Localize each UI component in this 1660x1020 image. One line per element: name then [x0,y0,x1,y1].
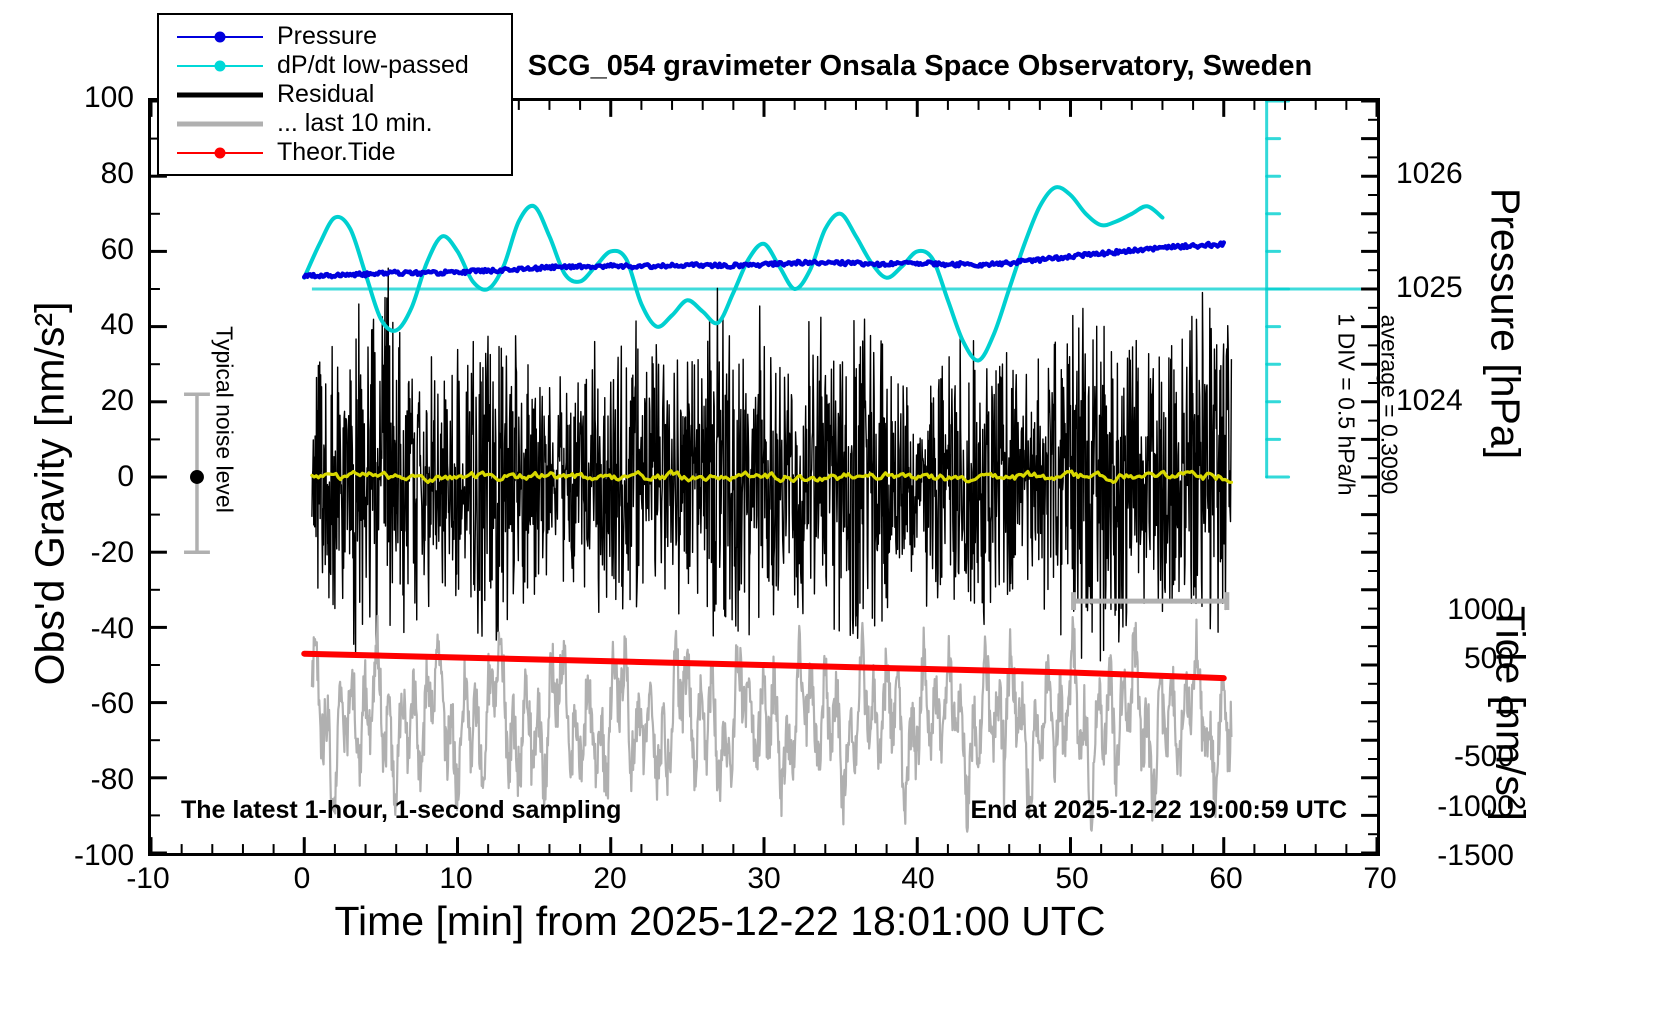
x-tick-label: 60 [1209,862,1242,896]
legend-item-dp-dt-low-passed[interactable]: dP/dt low-passed [159,51,511,80]
y-tick-label: 20 [101,384,134,418]
x-tick-label: 70 [1363,862,1396,896]
div-scale-label: 1 DIV = 0.5 hPa/h [1333,285,1360,525]
legend-swatch-icon [177,27,263,47]
y-right-tide-tick-label: -1000 [1396,790,1514,824]
x-tick-label: 20 [593,862,626,896]
y-axis-left-label: Obs'd Gravity [nm/s²] [27,144,74,844]
legend-line-icon [177,92,263,97]
y-right-tide-tick-label: -1500 [1396,839,1514,873]
gravimeter-plot-page: SCG_054 gravimeter Onsala Space Observat… [0,0,1660,1020]
y-tick-label: 60 [101,233,134,267]
sampling-note: The latest 1-hour, 1-second sampling [181,796,621,825]
y-tick-label: 0 [117,460,134,494]
legend-swatch-icon [177,114,263,134]
legend-marker-icon [215,31,226,42]
legend-item-theor-tide[interactable]: Theor.Tide [159,138,511,167]
end-time-note: End at 2025-12-22 19:00:59 UTC [970,796,1347,825]
legend-item-label: dP/dt low-passed [277,53,469,78]
y-right-pressure-tick-label: 1026 [1396,157,1463,191]
x-axis-label: Time [min] from 2025-12-22 18:01:00 UTC [0,898,1440,945]
y-right-tide-tick-label: 1000 [1396,593,1514,627]
y-tick-label: -80 [91,763,134,797]
typical-noise-level-label: Typical noise level [211,325,238,515]
legend-item-label: Pressure [277,24,377,49]
y-tick-label: -60 [91,687,134,721]
legend-swatch-icon [177,56,263,76]
y-tick-label: -40 [91,612,134,646]
legend-item-label: Theor.Tide [277,140,396,165]
average-label: average = 0.3090 [1376,285,1403,525]
x-tick-label: 40 [901,862,934,896]
page-title: SCG_054 gravimeter Onsala Space Observat… [420,50,1420,83]
legend-swatch-icon [177,85,263,105]
y-right-tide-tick-label: 500 [1396,642,1514,676]
plot-area: Typical noise level 1 DIV = 0.5 hPa/h av… [148,98,1380,856]
x-tick-label: -10 [126,862,169,896]
y-tick-label: 80 [101,157,134,191]
legend-item-label: Residual [277,82,374,107]
x-tick-label: 10 [439,862,472,896]
x-tick-label: 30 [747,862,780,896]
y-tick-label: 100 [84,81,134,115]
legend-item-pressure[interactable]: Pressure [159,22,511,51]
y-tick-label: 40 [101,308,134,342]
x-tick-label: 50 [1055,862,1088,896]
x-tick-label: 0 [294,862,311,896]
legend-marker-icon [215,60,226,71]
legend: PressuredP/dt low-passedResidual... last… [157,13,513,176]
legend-swatch-icon [177,143,263,163]
y-right-pressure-tick-label: 1025 [1396,271,1463,305]
legend-item-last-10-min[interactable]: ... last 10 min. [159,109,511,138]
y-axis-right-pressure-label: Pressure [hPa] [1482,114,1529,534]
y-tick-label: -100 [74,839,134,873]
y-right-pressure-tick-label: 1024 [1396,384,1463,418]
legend-item-residual[interactable]: Residual [159,80,511,109]
y-right-tide-tick-label: -500 [1396,740,1514,774]
legend-line-icon [177,121,263,126]
legend-marker-icon [215,147,226,158]
y-right-tide-tick-label: 0 [1396,691,1514,725]
axis-ticks-canvas [151,101,1377,853]
y-tick-label: -20 [91,536,134,570]
legend-item-label: ... last 10 min. [277,111,433,136]
